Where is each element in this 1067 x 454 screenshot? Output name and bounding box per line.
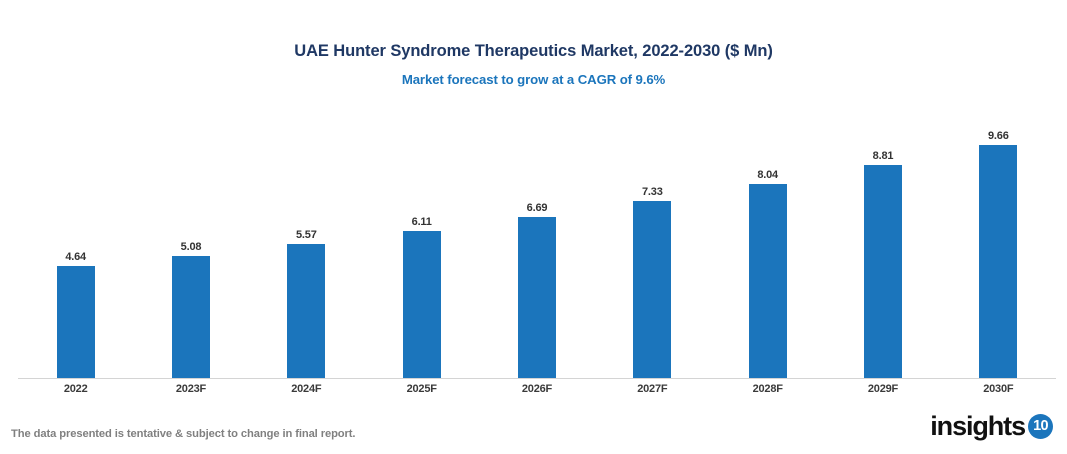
bar-2023F[interactable] xyxy=(172,256,210,379)
x-axis-label-2027F: 2027F xyxy=(595,383,710,395)
bar-2028F[interactable] xyxy=(749,184,787,379)
x-axis-label-2025F: 2025F xyxy=(364,383,479,395)
bar-2026F[interactable] xyxy=(518,217,556,379)
bar-2030F[interactable] xyxy=(979,145,1017,379)
x-axis-label-2029F: 2029F xyxy=(825,383,940,395)
x-axis-labels: 20222023F2024F2025F2026F2027F2028F2029F2… xyxy=(18,380,1056,402)
bar-group: 8.81 xyxy=(825,100,940,379)
bar-value-label-2027F: 7.33 xyxy=(642,186,663,198)
bar-value-label-2029F: 8.81 xyxy=(873,150,894,162)
x-axis-label-2026F: 2026F xyxy=(479,383,594,395)
plot-area: 4.645.085.576.116.697.338.048.819.66 xyxy=(18,100,1056,379)
bar-value-label-2023F: 5.08 xyxy=(181,241,202,253)
insights10-logo: insights 10 xyxy=(930,409,1053,443)
bar-group: 6.11 xyxy=(364,100,479,379)
x-axis-label-2028F: 2028F xyxy=(710,383,825,395)
bar-2024F[interactable] xyxy=(287,244,325,379)
bar-group: 7.33 xyxy=(595,100,710,379)
bar-group: 5.08 xyxy=(133,100,248,379)
bar-value-label-2030F: 9.66 xyxy=(988,130,1009,142)
x-axis-label-2022: 2022 xyxy=(18,383,133,395)
x-axis-label-2030F: 2030F xyxy=(941,383,1056,395)
bar-2029F[interactable] xyxy=(864,165,902,379)
x-axis-line xyxy=(18,378,1056,379)
bar-2027F[interactable] xyxy=(633,201,671,379)
bar-group: 5.57 xyxy=(249,100,364,379)
bar-2022[interactable] xyxy=(57,266,95,379)
bar-value-label-2026F: 6.69 xyxy=(527,202,548,214)
bar-value-label-2024F: 5.57 xyxy=(296,229,317,241)
logo-badge-text: 10 xyxy=(1033,419,1048,434)
logo-wordmark: insights xyxy=(930,413,1025,440)
chart-subtitle: Market forecast to grow at a CAGR of 9.6… xyxy=(0,72,1067,87)
chart-page: UAE Hunter Syndrome Therapeutics Market,… xyxy=(0,0,1067,454)
x-axis-label-2023F: 2023F xyxy=(133,383,248,395)
bar-group: 9.66 xyxy=(941,100,1056,379)
bar-value-label-2025F: 6.11 xyxy=(412,216,432,228)
page-title: UAE Hunter Syndrome Therapeutics Market,… xyxy=(0,42,1067,61)
bar-group: 6.69 xyxy=(479,100,594,379)
bar-value-label-2022: 4.64 xyxy=(65,251,86,263)
bar-value-label-2028F: 8.04 xyxy=(757,169,778,181)
logo-badge-circle: 10 xyxy=(1028,414,1053,439)
bar-2025F[interactable] xyxy=(403,231,441,379)
disclaimer-text: The data presented is tentative & subjec… xyxy=(11,428,355,440)
bar-group: 8.04 xyxy=(710,100,825,379)
bar-group: 4.64 xyxy=(18,100,133,379)
x-axis-label-2024F: 2024F xyxy=(249,383,364,395)
